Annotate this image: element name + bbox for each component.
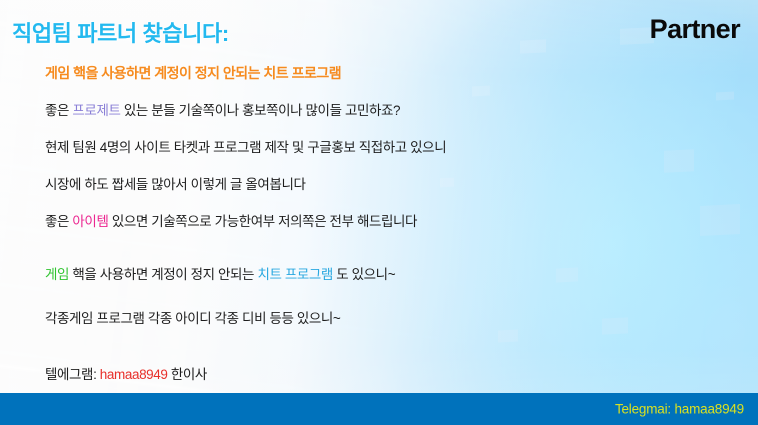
body-line-4-highlight: 아이템 [72, 214, 108, 229]
body-line-5-part-d: 도 있으니~ [333, 267, 395, 282]
body-line-1-part-a: 좋은 [45, 103, 72, 118]
body-line-3: 시장에 하도 짭세들 많아서 이렇게 글 올여봅니다 [45, 173, 306, 193]
page-title: 직업팀 파트너 찾습니다: [12, 16, 229, 48]
brand-logo: Partner [650, 14, 740, 45]
subheadline: 게임 핵을 사용하면 계정이 정지 안되는 치트 프로그램 [45, 63, 341, 83]
body-line-4: 좋은 아이템 있으면 기술쪽으로 가능한여부 저의쪽은 전부 해드립니다 [45, 210, 417, 230]
contact-line: 텔에그램: hamaa8949 한이사 [45, 363, 207, 383]
body-line-5: 게임 핵을 사용하면 계정이 정지 안되는 치트 프로그램 도 있으니~ [45, 263, 395, 283]
body-line-1: 좋은 프로제트 있는 분들 기술쪽이나 홍보쪽이나 많이들 고민하죠? [45, 99, 400, 119]
body-line-5-highlight-game: 게임 [45, 267, 69, 282]
body-line-6: 각종게임 프로그램 각종 아이디 각종 디비 등등 있으니~ [45, 307, 340, 327]
body-line-5-highlight-cheat: 치트 프로그램 [257, 267, 332, 282]
body-line-1-highlight: 프로제트 [72, 103, 120, 118]
footer-contact[interactable]: Telegmai: hamaa8949 [615, 402, 744, 417]
contact-label: 텔에그램: [45, 367, 100, 382]
body-line-2: 현제 팀원 4명의 사이트 타켓과 프로그램 제작 및 구글홍보 직접하고 있으… [45, 136, 446, 156]
contact-suffix: 한이사 [168, 367, 207, 382]
body-line-5-part-b: 핵을 사용하면 계정이 정지 안되는 [69, 267, 257, 282]
footer-bar: Telegmai: hamaa8949 [0, 393, 758, 425]
body-line-4-part-b: 있으면 기술쪽으로 가능한여부 저의쪽은 전부 해드립니다 [108, 214, 417, 229]
slide-content: 직업팀 파트너 찾습니다: Partner 게임 핵을 사용하면 계정이 정지 … [0, 0, 758, 425]
body-line-4-part-a: 좋은 [45, 214, 72, 229]
promo-slide: 직업팀 파트너 찾습니다: Partner 게임 핵을 사용하면 계정이 정지 … [0, 0, 758, 425]
contact-handle[interactable]: hamaa8949 [100, 367, 168, 382]
body-line-1-part-b: 있는 분들 기술쪽이나 홍보쪽이나 많이들 고민하죠? [121, 103, 401, 118]
